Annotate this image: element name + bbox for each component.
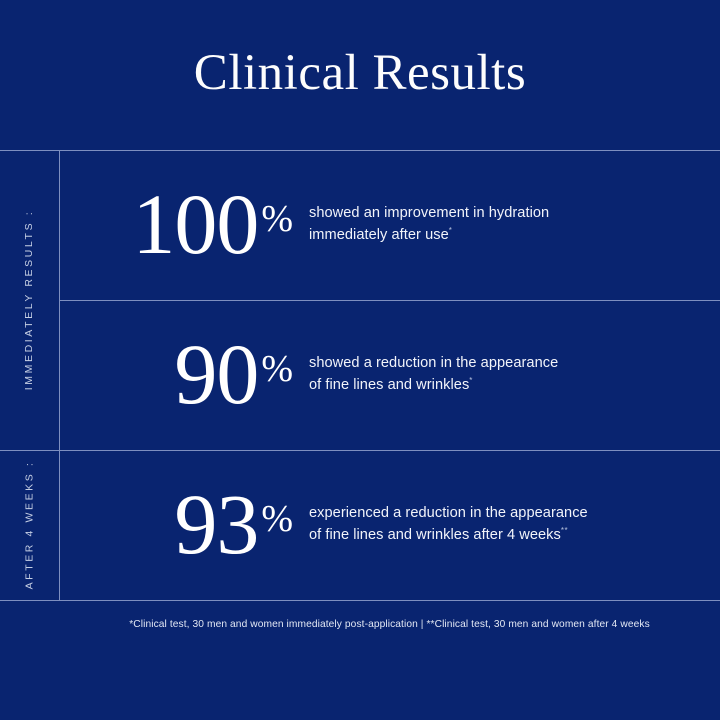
percent-sign: % xyxy=(261,350,293,388)
percent-sign: % xyxy=(261,500,293,538)
stat-row: 90 % showed a reduction in the appearanc… xyxy=(59,300,720,450)
stat-row: 93 % experienced a reduction in the appe… xyxy=(59,450,720,600)
group-label-after-4-weeks: AFTER 4 WEEKS : xyxy=(0,450,59,600)
stat-description: experienced a reduction in the appearanc… xyxy=(309,503,720,547)
title-zone: Clinical Results xyxy=(0,0,720,150)
stat-description-line-2: of fine lines and wrinkles after 4 weeks xyxy=(309,527,561,543)
stat-description-line-1: experienced a reduction in the appearanc… xyxy=(309,505,588,521)
stat-number: 100 xyxy=(132,188,258,262)
stat-description: showed a reduction in the appearance of … xyxy=(309,353,720,397)
group-label-immediately-results: IMMEDIATELY RESULTS : xyxy=(0,150,59,450)
stat-row: 100 % showed an improvement in hydration… xyxy=(59,150,720,300)
page-title: Clinical Results xyxy=(194,48,526,103)
group-label-text: AFTER 4 WEEKS : xyxy=(24,461,36,590)
stat-value-group: 100 % xyxy=(59,188,309,262)
percent-sign: % xyxy=(261,200,293,238)
footnote: *Clinical test, 30 men and women immedia… xyxy=(59,600,720,648)
stat-value-group: 90 % xyxy=(59,338,309,412)
clinical-results-poster: Clinical Results IMMEDIATELY RESULTS : A… xyxy=(0,0,720,720)
stat-description: showed an improvement in hydration immed… xyxy=(309,203,720,247)
stat-description-line-2: immediately after use xyxy=(309,227,449,243)
stat-number: 90 xyxy=(174,338,258,412)
group-label-text: IMMEDIATELY RESULTS : xyxy=(24,210,36,390)
stat-number: 93 xyxy=(174,488,258,562)
stat-description-line-1: showed a reduction in the appearance xyxy=(309,355,558,371)
stat-value-group: 93 % xyxy=(59,488,309,562)
footnote-marker: ** xyxy=(561,526,568,535)
stat-description-line-2: of fine lines and wrinkles xyxy=(309,377,469,393)
stat-description-line-1: showed an improvement in hydration xyxy=(309,205,549,221)
footnote-marker: * xyxy=(469,376,473,385)
footnote-marker: * xyxy=(449,226,453,235)
